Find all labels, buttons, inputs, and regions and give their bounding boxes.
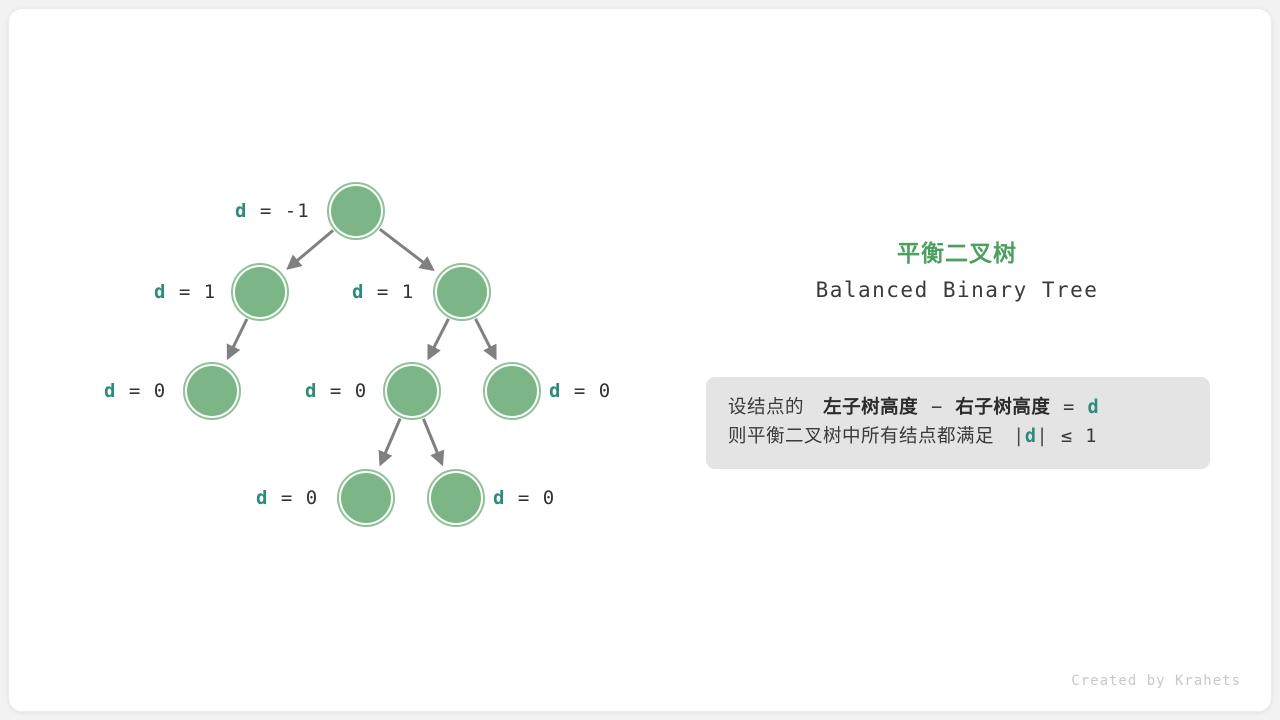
- node-balance-label: d = 0: [493, 487, 555, 509]
- label-variable-d: d: [256, 487, 268, 509]
- label-equals: =: [166, 281, 203, 303]
- page-subtitle: Balanced Binary Tree: [669, 278, 1245, 302]
- label-variable-d: d: [104, 380, 116, 402]
- definition-line-2: 则平衡二叉树中所有结点都满足 |d| ≤ 1: [728, 422, 1188, 451]
- tree-node-fill: [387, 366, 437, 416]
- label-variable-d: d: [352, 281, 364, 303]
- variable-d-abs: d: [1025, 426, 1037, 447]
- tree-edge: [228, 319, 247, 358]
- tree-edge: [429, 319, 449, 358]
- tree-node-fill: [341, 473, 391, 523]
- tree-edge: [380, 229, 433, 269]
- label-equals: =: [247, 200, 284, 222]
- node-balance-label: d = 0: [256, 487, 318, 509]
- bound-value: 1: [1085, 426, 1097, 447]
- node-balance-label: d = -1: [235, 200, 310, 222]
- label-equals: =: [505, 487, 542, 509]
- tree-node-fill: [487, 366, 537, 416]
- condition-prefix: 则平衡二叉树中所有结点都满足: [728, 426, 994, 447]
- label-equals: =: [364, 281, 401, 303]
- label-variable-d: d: [305, 380, 317, 402]
- node-balance-label: d = 1: [352, 281, 414, 303]
- label-value: 0: [154, 380, 166, 402]
- tree-node: [328, 183, 384, 239]
- tree-node: [232, 264, 288, 320]
- tree-node-fill: [431, 473, 481, 523]
- equals-operator: =: [1063, 397, 1075, 418]
- label-variable-d: d: [235, 200, 247, 222]
- tree-node: [338, 470, 394, 526]
- label-equals: =: [317, 380, 354, 402]
- node-balance-label: d = 0: [305, 380, 367, 402]
- tree-node: [384, 363, 440, 419]
- tree-node-fill: [187, 366, 237, 416]
- label-value: 0: [355, 380, 367, 402]
- label-variable-d: d: [493, 487, 505, 509]
- label-value: 0: [543, 487, 555, 509]
- node-balance-label: d = 1: [154, 281, 216, 303]
- label-equals: =: [268, 487, 305, 509]
- tree-node: [184, 363, 240, 419]
- tree-node-fill: [437, 267, 487, 317]
- binary-tree-graphic: [9, 9, 1272, 712]
- tree-edge: [476, 319, 496, 358]
- label-equals: =: [116, 380, 153, 402]
- diagram-stage: d = -1d = 1d = 1d = 0d = 0d = 0d = 0d = …: [9, 9, 1271, 711]
- less-equal-operator: ≤: [1061, 426, 1073, 447]
- label-variable-d: d: [549, 380, 561, 402]
- abs-bar-right: |: [1036, 426, 1048, 447]
- tree-node: [484, 363, 540, 419]
- node-balance-label: d = 0: [104, 380, 166, 402]
- right-subtree-height-term: 右子树高度: [955, 397, 1050, 418]
- node-balance-label: d = 0: [549, 380, 611, 402]
- diagram-card: d = -1d = 1d = 1d = 0d = 0d = 0d = 0d = …: [8, 8, 1272, 712]
- info-panel: 平衡二叉树 Balanced Binary Tree 设结点的 左子树高度 − …: [669, 234, 1249, 302]
- left-subtree-height-term: 左子树高度: [823, 397, 918, 418]
- label-value: 0: [306, 487, 318, 509]
- credit-text: Created by Krahets: [1071, 673, 1241, 689]
- minus-operator: −: [931, 397, 943, 418]
- tree-edge: [381, 419, 401, 464]
- definition-prefix: 设结点的: [728, 397, 804, 418]
- page-title: 平衡二叉树: [669, 234, 1245, 268]
- definition-box: 设结点的 左子树高度 − 右子树高度 = d 则平衡二叉树中所有结点都满足 |d…: [706, 377, 1210, 469]
- tree-edge: [423, 419, 442, 464]
- abs-bar-left: |: [1013, 426, 1025, 447]
- label-variable-d: d: [154, 281, 166, 303]
- tree-edge: [288, 230, 333, 268]
- label-equals: =: [561, 380, 598, 402]
- variable-d: d: [1088, 397, 1100, 418]
- tree-node-fill: [235, 267, 285, 317]
- tree-nodes: [184, 183, 540, 526]
- label-value: -1: [285, 200, 310, 222]
- label-value: 0: [599, 380, 611, 402]
- tree-node-fill: [331, 186, 381, 236]
- tree-node: [434, 264, 490, 320]
- label-value: 1: [204, 281, 216, 303]
- tree-node: [428, 470, 484, 526]
- definition-line-1: 设结点的 左子树高度 − 右子树高度 = d: [728, 393, 1188, 422]
- label-value: 1: [402, 281, 414, 303]
